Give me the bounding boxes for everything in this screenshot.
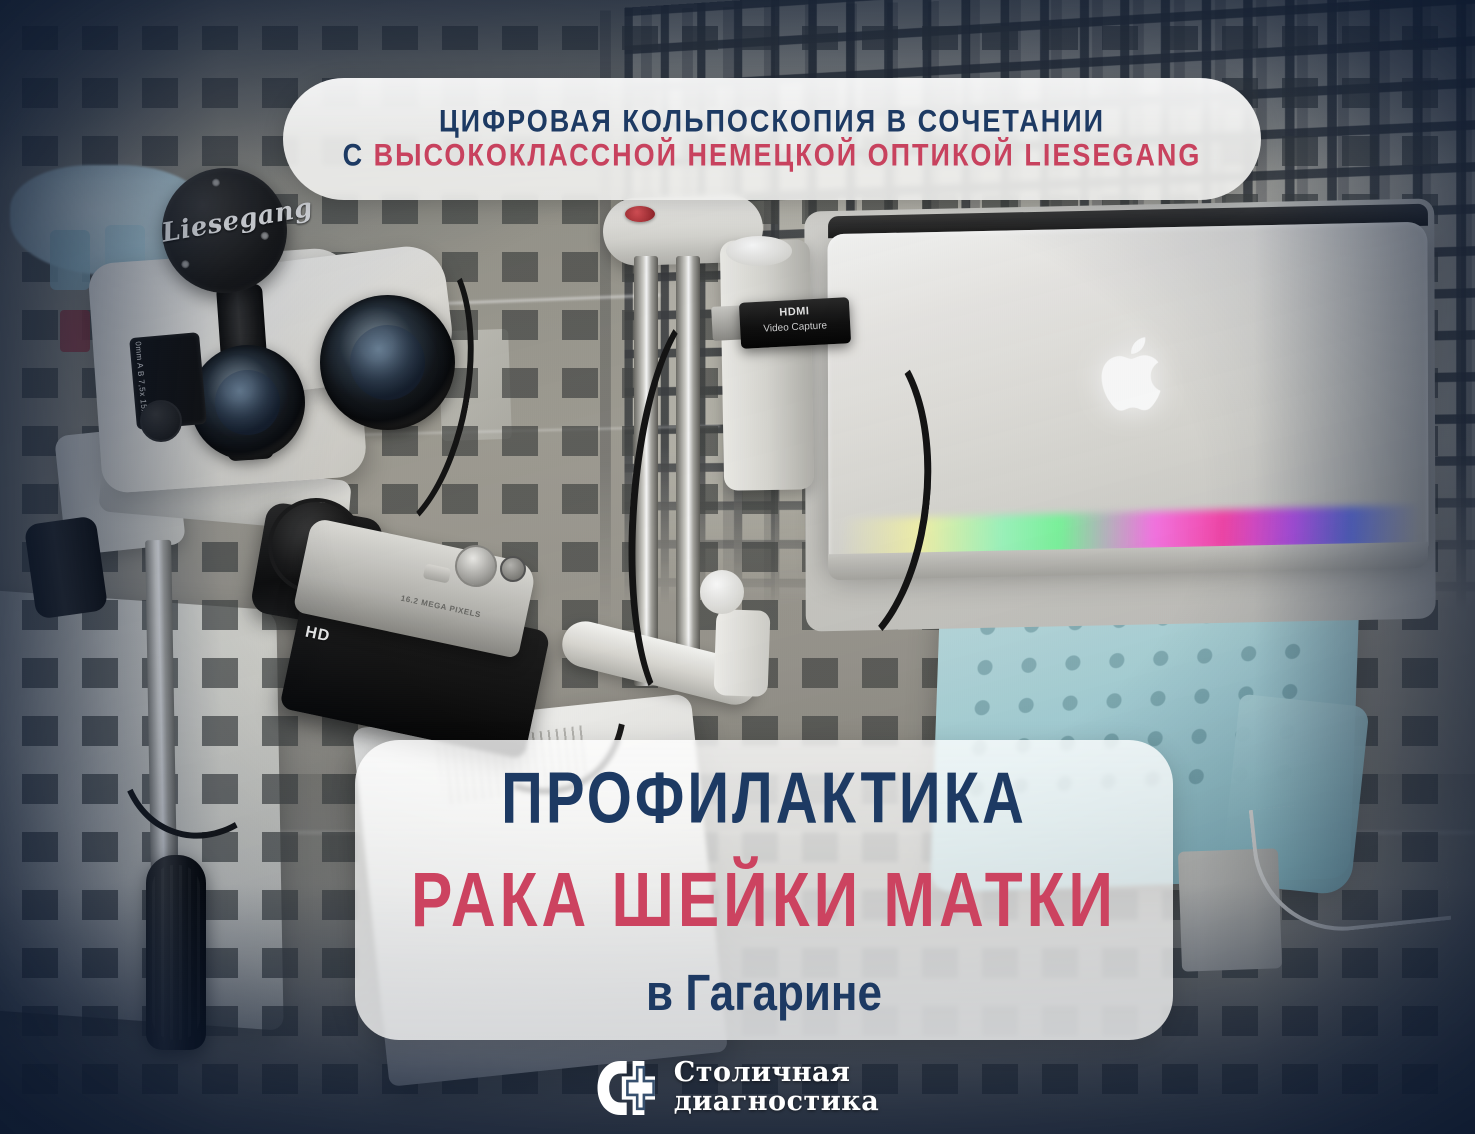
headline-line-2-prefix: С: [343, 137, 374, 172]
headline-banner-bottom: ПРОФИЛАКТИКА РАКА ШЕЙКИ МАТКИ в Гагарине: [355, 740, 1173, 1040]
headline-line-2: С ВЫСОКОКЛАССНОЙ НЕМЕЦКОЙ ОПТИКОЙ LIESEG…: [343, 138, 1202, 173]
headline-line-1: ЦИФРОВАЯ КОЛЬПОСКОПИЯ В СОЧЕТАНИИ: [439, 105, 1105, 140]
sd-cross-monogram-icon: [596, 1061, 658, 1115]
poster-root: HDMI Video Capture Liesegang 0mm A B 7,5…: [0, 0, 1475, 1134]
brand-name: Столичная диагностика: [674, 1059, 880, 1116]
headline-line-2-accent: ВЫСОКОКЛАССНОЙ НЕМЕЦКОЙ ОПТИКОЙ LIESEGAN…: [374, 137, 1202, 172]
brand-name-line-2: диагностика: [674, 1088, 880, 1116]
title-line-city: в Гагарине: [646, 968, 882, 1019]
title-line-prevention: ПРОФИЛАКТИКА: [501, 763, 1027, 835]
brand-name-line-1: Столичная: [674, 1059, 880, 1087]
title-line-cervical-cancer: РАКА ШЕЙКИ МАТКИ: [411, 863, 1117, 940]
headline-banner-top: ЦИФРОВАЯ КОЛЬПОСКОПИЯ В СОЧЕТАНИИ С ВЫСО…: [283, 78, 1261, 200]
brand-logo[interactable]: Столичная диагностика: [0, 1059, 1475, 1116]
